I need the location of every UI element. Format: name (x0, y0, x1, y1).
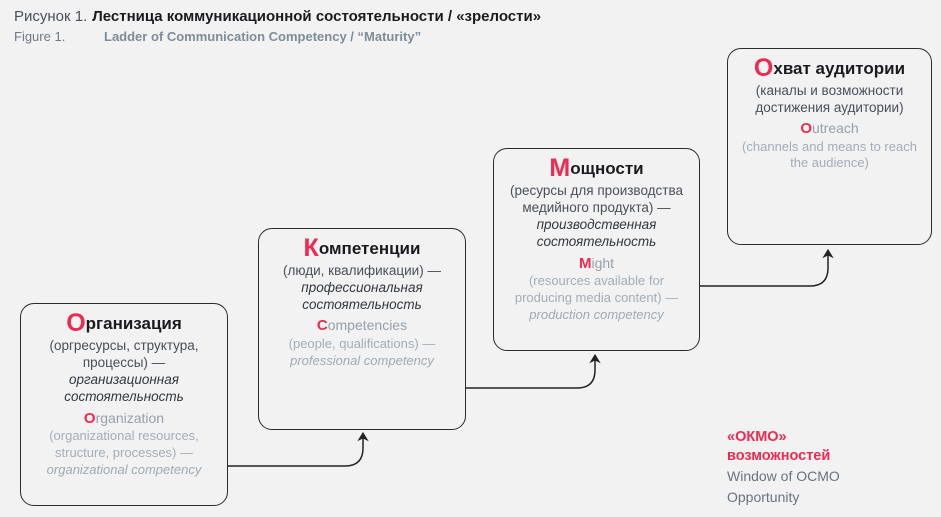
step-ru-term: организационная состоятельность (30, 371, 218, 406)
step-en-title: Organization (30, 409, 218, 429)
legend-ru-line-2: возможностей (727, 447, 937, 466)
step-title-organization: Организация (30, 312, 218, 335)
step-ru-term: профессиональная состоятельность (268, 279, 456, 314)
figure-title-ru: Лестница коммуникационной состоятельност… (92, 8, 541, 25)
step-en-description: (people, qualifications) — (268, 336, 456, 353)
step-en-title: Might (503, 254, 690, 274)
legend-ocmo-window: «ОКМО» возможностей Window of OCMO Oppor… (727, 428, 937, 508)
legend-en-line-2: Opportunity (727, 488, 937, 508)
step-title-outreach: Охват аудитории (737, 57, 922, 80)
dropcap-letter: К (304, 234, 319, 262)
step-en-title: Competencies (268, 316, 456, 336)
step-box-outreach[interactable]: Охват аудитории (каналы и возможности до… (727, 48, 932, 245)
step-box-organization[interactable]: Организация (оргресурсы, структура, проц… (20, 303, 228, 506)
dropcap-letter-en: M (579, 255, 592, 272)
step-en-title-rest: rganization (96, 410, 165, 426)
dropcap-letter: О (66, 309, 85, 337)
figure-caption-ru: Рисунок 1. Лестница коммуникационной сос… (14, 8, 541, 25)
step-en-description: (resources available for producing media… (503, 273, 690, 307)
arrow-competencies-to-might (466, 359, 595, 388)
step-en-term: production competency (503, 307, 690, 324)
figure-number-en: Figure 1. (14, 29, 86, 44)
step-en-term: organizational competency (30, 462, 218, 479)
dropcap-letter: О (754, 54, 773, 82)
arrow-might-to-outreach (700, 254, 828, 286)
step-en-title-rest: ight (591, 255, 614, 271)
legend-ru-line-1: «ОКМО» (727, 428, 937, 447)
figure-number-ru: Рисунок 1. (14, 8, 87, 25)
step-title-rest: хват аудитории (773, 59, 905, 78)
figure-title-en: Ladder of Communication Competency / “Ma… (104, 29, 421, 44)
dropcap-letter: М (549, 154, 570, 182)
step-en-term: professional competency (268, 353, 456, 370)
dropcap-letter-en: O (800, 120, 812, 137)
step-ru-description: (ресурсы для производства медийного прод… (503, 182, 690, 217)
step-title-rest: ощности (570, 159, 643, 178)
legend-en-line-1: Window of OCMO (727, 467, 937, 487)
step-box-might[interactable]: Мощности (ресурсы для производства медий… (493, 148, 700, 351)
arrow-organization-to-competencies (228, 437, 363, 466)
figure-header: Рисунок 1. Лестница коммуникационной сос… (14, 8, 541, 44)
step-title-rest: омпетенции (319, 239, 421, 258)
step-en-title-rest: ompetencies (328, 317, 407, 333)
step-title-rest: рганизация (86, 314, 182, 333)
step-en-title-rest: utreach (812, 120, 859, 136)
step-ru-description: (оргресурсы, структура, процессы) — (30, 337, 218, 372)
step-box-competencies[interactable]: Компетенции (люди, квалификации) — профе… (258, 228, 466, 430)
step-ru-term: производственная состоятельность (503, 216, 690, 251)
step-en-title: Outreach (737, 119, 922, 139)
dropcap-letter-en: C (317, 317, 328, 334)
figure-caption-en: Figure 1. Ladder of Communication Compet… (14, 29, 541, 44)
step-en-description: (organizational resources, structure, pr… (30, 428, 218, 462)
step-en-description: (channels and means to reach the audienc… (737, 139, 922, 173)
step-ru-description: (люди, квалификации) — (268, 262, 456, 279)
step-title-might: Мощности (503, 157, 690, 180)
step-ru-description: (каналы и возможности достижения аудитор… (737, 82, 922, 117)
step-title-competencies: Компетенции (268, 237, 456, 260)
dropcap-letter-en: O (84, 410, 96, 427)
